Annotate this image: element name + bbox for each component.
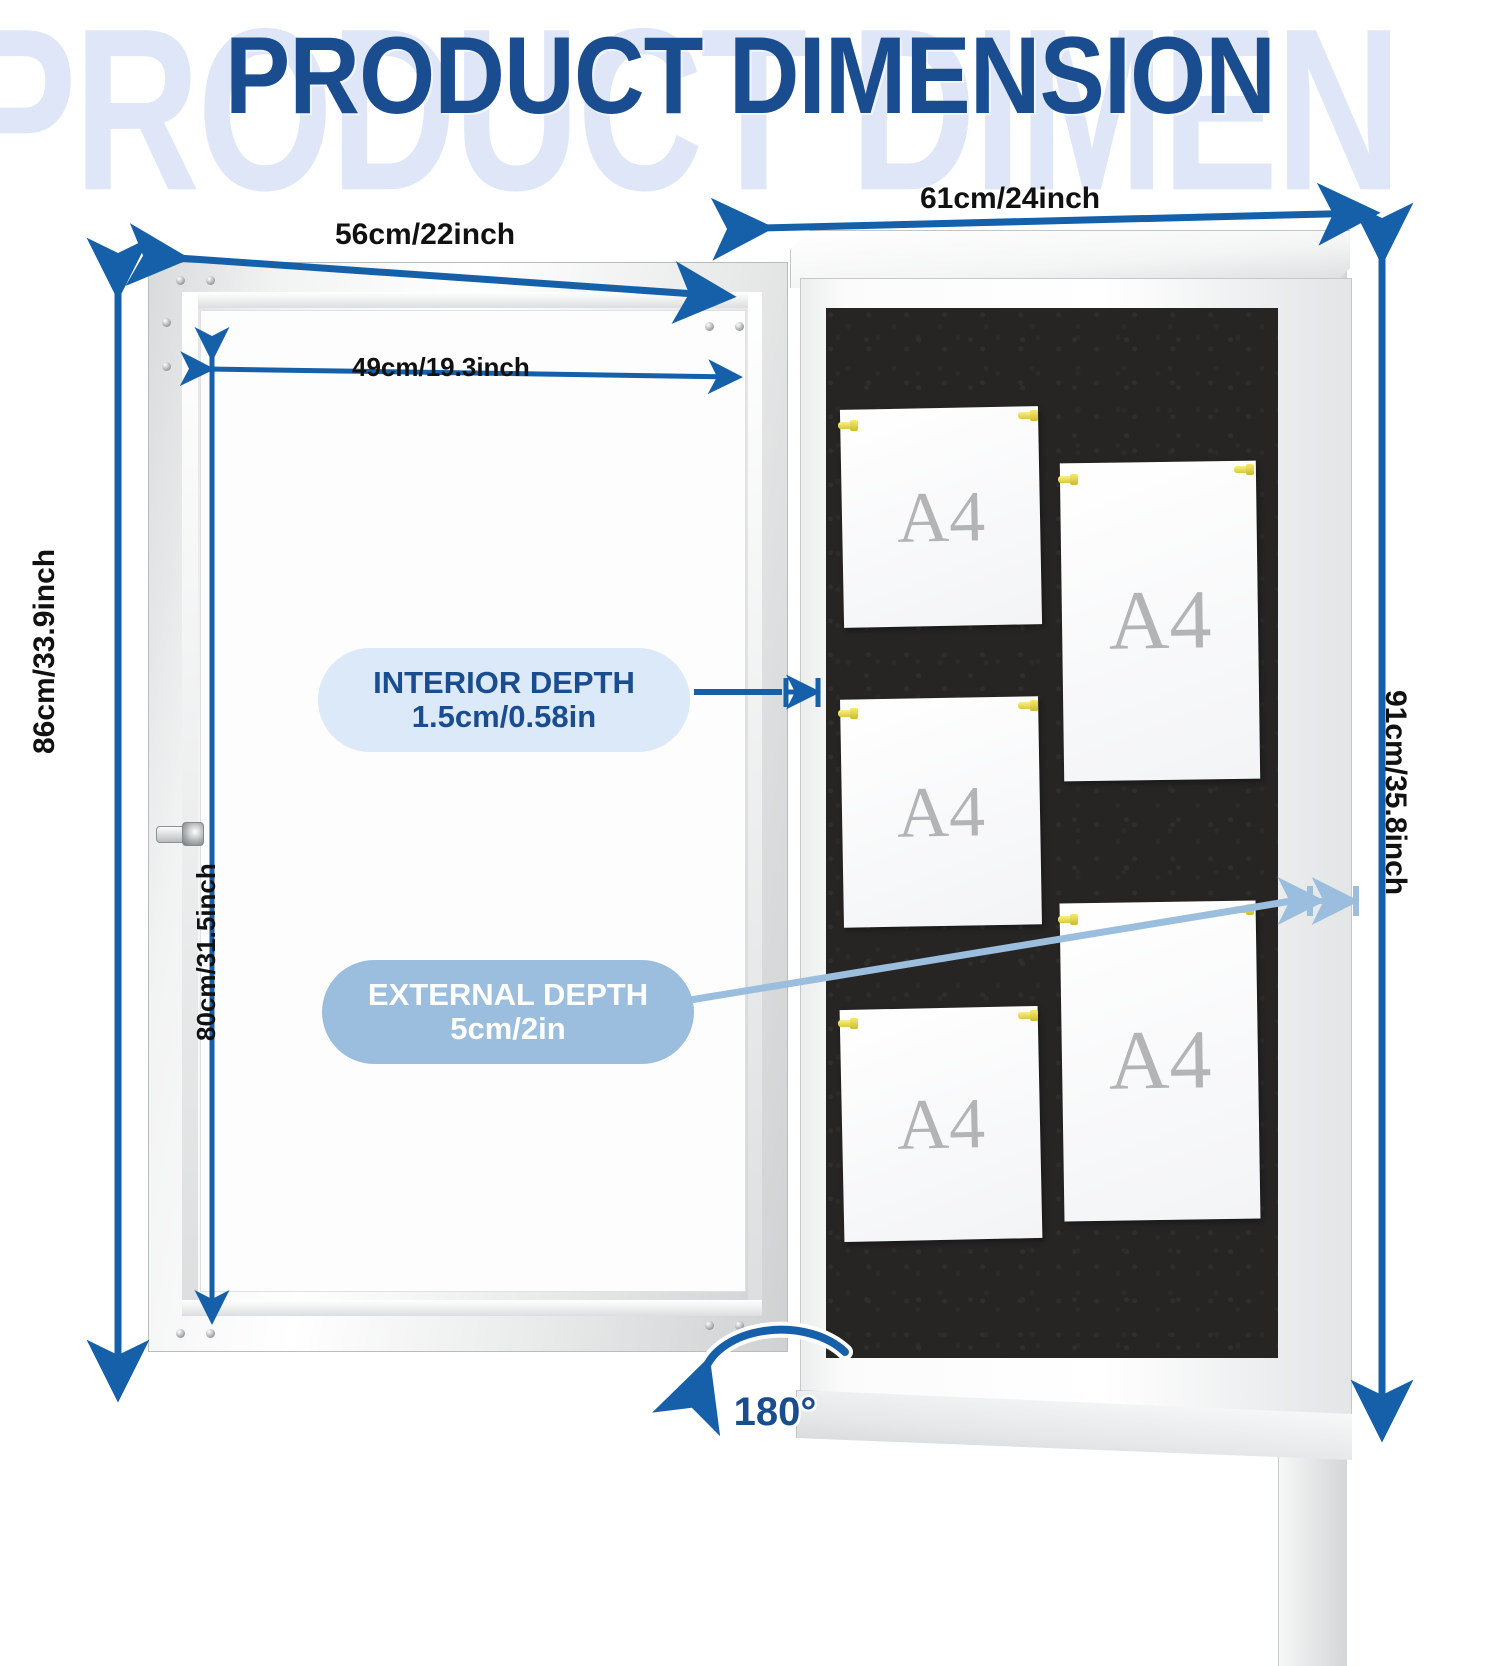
- callout-external-depth-value: 5cm/2in: [450, 1012, 565, 1046]
- callout-interior-depth: INTERIOR DEPTH 1.5cm/0.58in: [318, 648, 690, 752]
- label-door-inner-width: 49cm/19.3inch: [352, 352, 530, 383]
- label-cabinet-width: 61cm/24inch: [920, 182, 1100, 216]
- label-door-inner-height: 80cm/31.5inch: [191, 863, 222, 1041]
- arrow-door-outer-width: [178, 258, 724, 296]
- callout-external-depth-title: EXTERNAL DEPTH: [368, 978, 648, 1012]
- callout-external-depth: EXTERNAL DEPTH 5cm/2in: [322, 960, 694, 1064]
- label-door-outer-width: 56cm/22inch: [335, 218, 515, 252]
- leader-external-depth: [690, 898, 1310, 1000]
- label-open-angle: 180°: [655, 1390, 895, 1435]
- callout-interior-depth-title: INTERIOR DEPTH: [373, 666, 635, 700]
- callout-interior-depth-value: 1.5cm/0.58in: [412, 700, 596, 734]
- label-door-outer-height: 86cm/33.9inch: [28, 549, 62, 754]
- label-cabinet-height: 91cm/35.8inch: [1378, 690, 1412, 895]
- dimension-arrows: [0, 0, 1500, 1460]
